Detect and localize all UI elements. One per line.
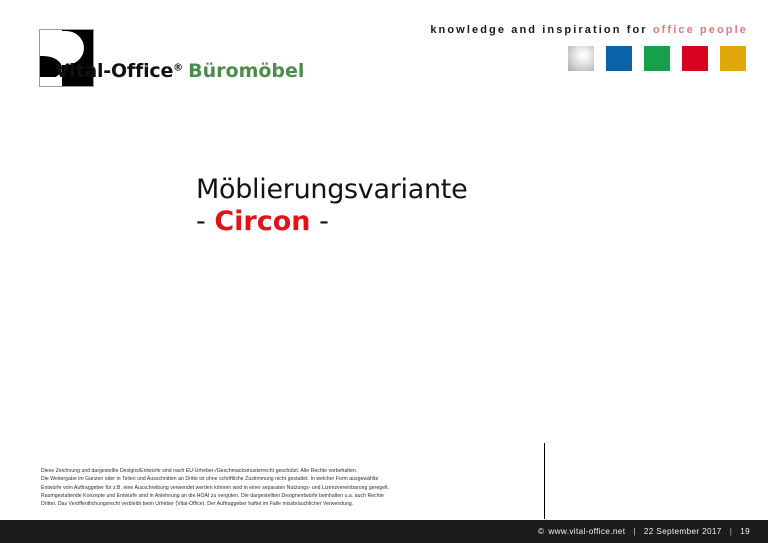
footer-page-number: 19 (740, 527, 750, 536)
copyright-icon: © (538, 527, 548, 536)
footer-separator: | (625, 527, 643, 536)
page-title: Möblierungsvariante (196, 176, 467, 204)
vertical-divider (544, 443, 545, 519)
footer-website-link[interactable]: www.vital-office.net (548, 527, 625, 536)
legal-notice: Diese Zeichnung und dargestellte Designs… (41, 467, 541, 508)
swatch-green (644, 46, 670, 71)
footer-separator: | (722, 527, 740, 536)
subtitle-accent: Circon (214, 206, 310, 237)
brand-tagline: knowledge and inspiration for office peo… (430, 24, 748, 36)
legal-line: Entwürfe vom Auftraggeber für z.B. eine … (41, 484, 541, 492)
legal-line: Diese Zeichnung und dargestellte Designs… (41, 467, 541, 475)
footer-date: 22 September 2017 (644, 527, 722, 536)
footer-content: © www.vital-office.net | 22 September 20… (538, 527, 768, 536)
swatch-yellow (720, 46, 746, 71)
color-swatch-row (568, 46, 746, 71)
footer-bar: © www.vital-office.net | 22 September 20… (0, 520, 768, 543)
slide-canvas: Vital-Office®Büromöbel knowledge and ins… (0, 0, 768, 543)
swatch-blue (606, 46, 632, 71)
wordmark-primary: Vital-Office (55, 60, 173, 82)
brand-wordmark: Vital-Office®Büromöbel (55, 62, 304, 81)
legal-line: Raumgestaltende Konzepte und Entwürfe si… (41, 492, 541, 500)
tagline-accent-part: office people (653, 24, 748, 36)
tagline-dark-part: knowledge and inspiration for (430, 24, 647, 36)
registered-trademark-icon: ® (173, 63, 183, 74)
swatch-red (682, 46, 708, 71)
legal-line: Dritter. Das Veröffentlichungsrecht verb… (41, 500, 541, 508)
legal-line: Die Weitergabe im Ganzen oder in Teilen … (41, 475, 541, 483)
swatch-silver (568, 46, 594, 71)
subtitle-dash-left: - (196, 206, 214, 237)
subtitle-dash-right: - (311, 206, 329, 237)
wordmark-secondary: Büromöbel (188, 60, 304, 82)
page-subtitle: - Circon - (196, 208, 467, 236)
slide-title-block: Möblierungsvariante - Circon - (196, 176, 467, 237)
